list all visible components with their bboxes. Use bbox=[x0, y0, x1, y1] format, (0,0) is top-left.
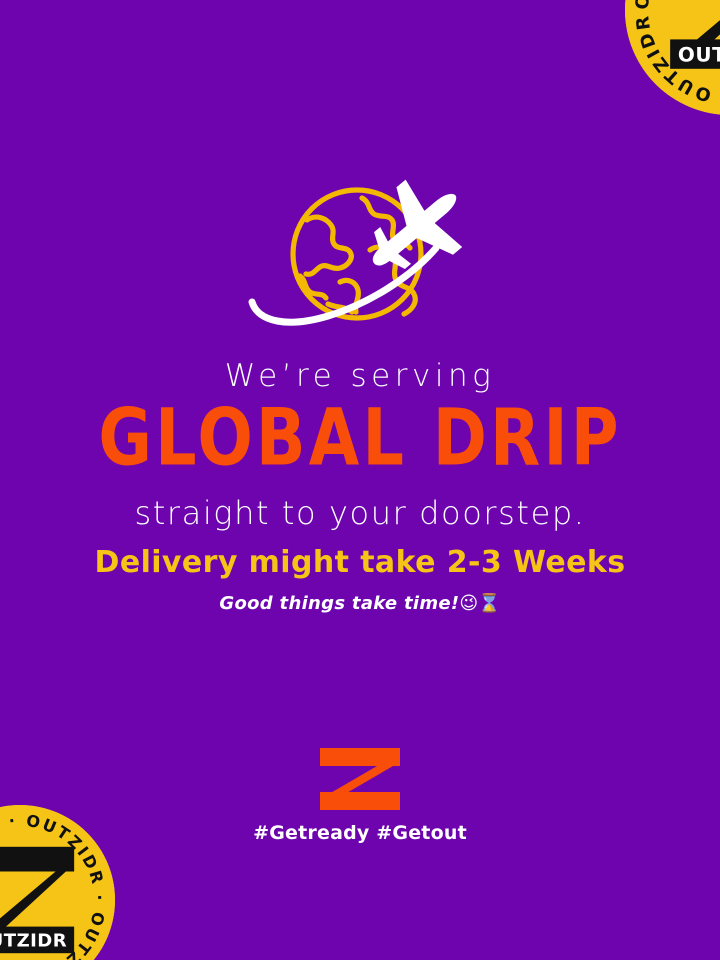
delivery-notice-block: Delivery might take 2-3 Weeks Good thing… bbox=[0, 546, 720, 614]
reassurance-line: Good things take time!😉⌛ bbox=[0, 594, 720, 614]
globe-with-airplane-graphic bbox=[0, 176, 720, 344]
reassurance-text: Good things take time! bbox=[219, 593, 459, 614]
svg-text:OUTZIDR: OUTZIDR bbox=[0, 931, 67, 952]
wink-hourglass-emoji: 😉⌛ bbox=[459, 593, 500, 614]
outzidr-z-logo bbox=[320, 748, 400, 810]
svg-text:OUTZIDR: OUTZIDR bbox=[678, 42, 720, 66]
delivery-time-text: Delivery might take 2-3 Weeks bbox=[0, 546, 720, 579]
eyebrow-text: We’re serving bbox=[0, 360, 720, 393]
headline-copy-block: We’re serving GLOBAL DRIP straight to yo… bbox=[0, 360, 720, 530]
outzidr-stamp-bottom-left: OUTZIDR · OUTZIDR · OUTZIDR · OUTZIDR · … bbox=[0, 805, 115, 960]
page-title: GLOBAL DRIP bbox=[0, 400, 720, 478]
outzidr-stamp-top-right: OUTZIDR · OUTZIDR · OUTZIDR · OUTZIDR · … bbox=[625, 0, 720, 115]
subline-text: straight to your doorstep. bbox=[0, 497, 720, 531]
promo-poster: OUTZIDR · OUTZIDR · OUTZIDR · OUTZIDR · … bbox=[0, 0, 720, 960]
